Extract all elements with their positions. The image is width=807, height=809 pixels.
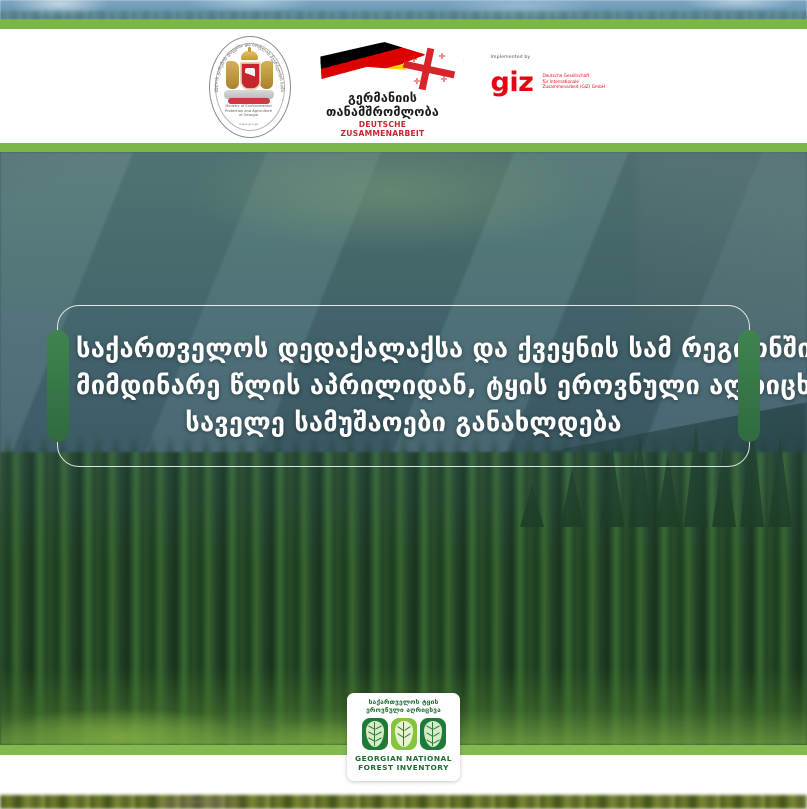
gnfi-label-ka-1: საქართველოს ტყის [369, 698, 439, 706]
german-cooperation-logo: ✛ ✛ ✛ ✛ გერმანიის თანამშრომლობა DEUTSCHE… [319, 38, 469, 134]
title-line-2: მიმდინარე წლის აპრილიდან, ტყის ეროვნული … [76, 368, 731, 405]
leaf-icon-2 [391, 718, 417, 750]
header-logo-band: საქართველოს გარემოს დაცვისა და სოფლის მე… [0, 29, 807, 143]
giz-wordmark: giz [491, 69, 534, 96]
leaf-icon-3 [420, 718, 446, 750]
emblem-text-en: Ministry of Environmental Protection and… [213, 104, 285, 118]
green-rule-middle [0, 143, 807, 152]
gnfi-leaf-group [362, 718, 446, 750]
logo-row: საქართველოს გარემოს დაცვისა და სოფლის მე… [201, 34, 607, 138]
georgian-small-cross-1: ✛ [411, 56, 418, 63]
german-coop-label-de: DEUTSCHE ZUSAMMENARBEIT [319, 120, 447, 138]
ministry-emblem-logo: საქართველოს გარემოს დაცვისა და სოფლის მე… [201, 34, 297, 138]
german-coop-label-ka-2: თანამშრომლობა [319, 104, 447, 119]
top-photo-strip [0, 0, 807, 20]
title-line-3: საველე სამუშაოები განახლდება [76, 405, 731, 442]
leaf-vein-2 [403, 722, 405, 746]
emblem-arc-text-ka: საქართველოს გარემოს დაცვისა და სოფლის მე… [209, 36, 289, 136]
flags-wrapper: ✛ ✛ ✛ ✛ [319, 40, 469, 92]
giz-subtitle-line3: Zusammenarbeit (GIZ) GmbH [543, 84, 607, 90]
title-accent-pill-right [738, 330, 760, 442]
giz-subtitle: Deutsche Gesellschaft für Internationale… [543, 73, 607, 90]
title-accent-pill-left [47, 330, 69, 442]
title-line-1: საქართველოს დედაქალაქსა და ქვეყნის სამ რ… [76, 331, 731, 368]
announcement-page: საქართველოს გარემოს დაცვისა და სოფლის მე… [0, 0, 807, 809]
svg-text:საქართველოს გარემოს დაცვისა და: საქართველოს გარემოს დაცვისა და სოფლის მე… [209, 36, 286, 93]
german-coop-label-ka-1: გერმანიის [319, 90, 447, 105]
gnfi-label-en-2: FOREST INVENTORY [358, 763, 449, 772]
georgian-small-cross-2: ✛ [439, 53, 446, 60]
green-rule-top [0, 20, 807, 29]
giz-logo: Implemented by giz Deutsche Gesellschaft… [489, 55, 607, 117]
emblem-website: mepa.gov.ge [213, 122, 285, 126]
leaf-icon-1 [362, 718, 388, 750]
georgian-small-cross-4: ✛ [441, 76, 448, 83]
emblem-arc-label: საქართველოს გარემოს დაცვისა და სოფლის მე… [209, 36, 286, 93]
bottom-photo-highlight [140, 795, 260, 809]
title-card: საქართველოს დედაქალაქსა და ქვეყნის სამ რ… [57, 305, 750, 467]
gnfi-logo-badge: საქართველოს ტყის ეროვნული აღრიცხვა [347, 693, 460, 781]
bottom-photo-strip [0, 795, 807, 809]
georgian-small-cross-3: ✛ [414, 78, 421, 85]
giz-implemented-by-label: Implemented by [491, 55, 531, 60]
top-photo-vegetation [0, 11, 807, 20]
emblem-en-line3: of Georgia [213, 113, 285, 118]
announcement-title: საქართველოს დედაქალაქსა და ქვეყნის სამ რ… [58, 331, 749, 442]
gnfi-label-en-1: GEORGIAN NATIONAL [355, 754, 452, 763]
gnfi-label-ka-2: ეროვნული აღრიცხვა [366, 706, 441, 714]
